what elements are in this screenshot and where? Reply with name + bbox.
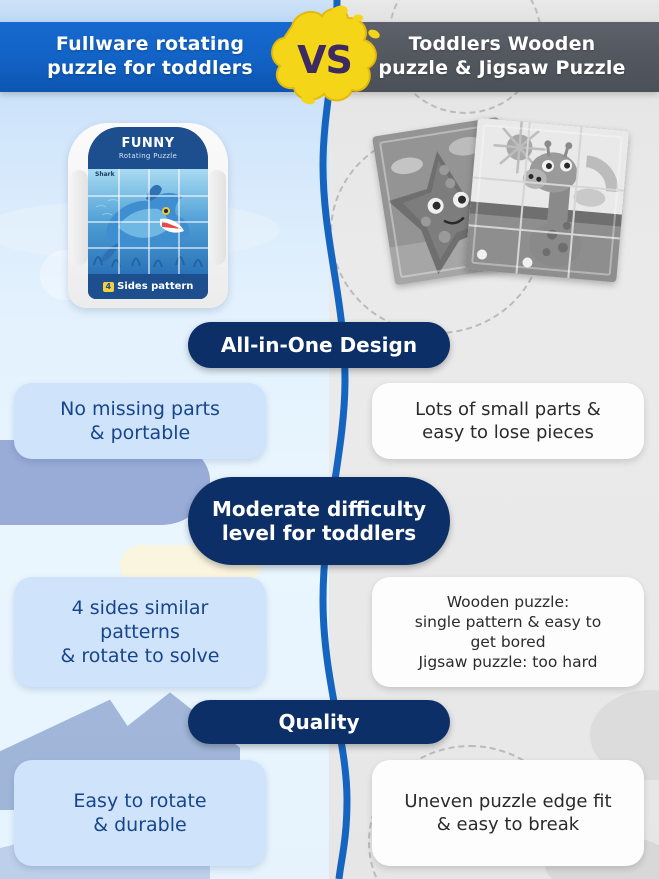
puzzle-grid-line <box>118 169 120 274</box>
puzzle-grid-line <box>148 169 150 274</box>
left-benefit-card-2: 4 sides similar patterns & rotate to sol… <box>14 577 266 687</box>
header-right-title: Toddlers Wooden puzzle & Jigsaw Puzzle <box>370 33 633 81</box>
product-grip-left <box>70 170 88 265</box>
sides-pattern-label: Sides pattern <box>117 281 193 292</box>
sides-count-badge: 4 <box>103 282 115 292</box>
vs-badge: VS <box>262 4 387 108</box>
category-pill-moderate-difficulty: Moderate difficulty level for toddlers <box>188 477 450 565</box>
header-left-banner: Fullware rotating puzzle for toddlers <box>0 22 300 92</box>
product-artwork <box>88 169 208 274</box>
product-brand-header: FUNNY Rotating Puzzle <box>88 127 208 169</box>
vs-label: VS <box>262 8 387 112</box>
product-grip-right <box>208 170 226 265</box>
product-brand: FUNNY <box>121 137 174 150</box>
product-tagline: Rotating Puzzle <box>119 152 177 160</box>
product-image-rotating-puzzle: FUNNY Rotating Puzzle Shark <box>68 115 228 310</box>
header-left-title: Fullware rotating puzzle for toddlers <box>39 33 261 81</box>
left-benefit-card-1: No missing parts & portable <box>14 383 266 459</box>
comparison-infographic: Fullware rotating puzzle for toddlers To… <box>0 0 659 879</box>
header-right-banner: Toddlers Wooden puzzle & Jigsaw Puzzle <box>345 22 659 92</box>
category-pill-quality: Quality <box>188 700 450 744</box>
category-pill-all-in-one-design: All-in-One Design <box>188 322 450 368</box>
right-drawback-card-3: Uneven puzzle edge fit & easy to break <box>372 760 644 866</box>
wooden-giraffe-puzzle <box>465 118 630 283</box>
product-image-wooden-puzzles <box>383 118 623 308</box>
right-drawback-card-1: Lots of small parts & easy to lose piece… <box>372 383 644 459</box>
left-benefit-card-3: Easy to rotate & durable <box>14 760 266 866</box>
right-drawback-card-2: Wooden puzzle: single pattern & easy to … <box>372 577 644 687</box>
puzzle-frame <box>471 124 623 276</box>
product-footer: 4 Sides pattern <box>88 274 208 299</box>
product-face: FUNNY Rotating Puzzle Shark <box>88 127 208 299</box>
puzzle-grid-line <box>178 169 180 274</box>
product-pattern-label: Shark <box>95 171 115 178</box>
